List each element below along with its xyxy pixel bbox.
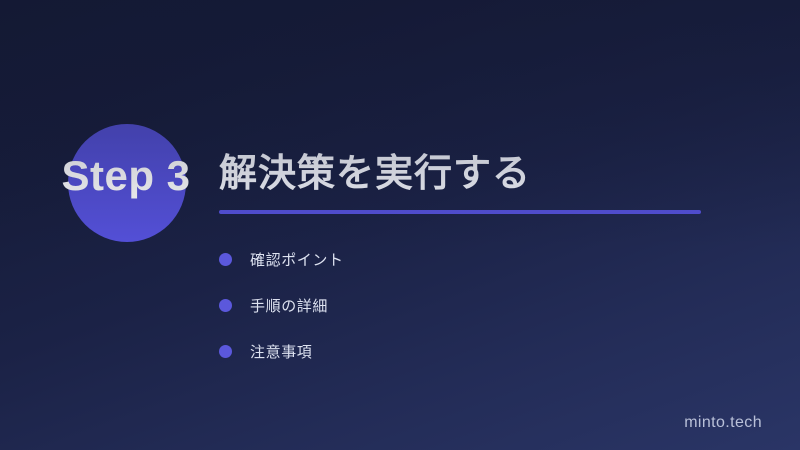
step-badge-label: Step 3 bbox=[46, 150, 206, 202]
list-item: 手順の詳細 bbox=[219, 282, 719, 328]
bullet-dot-icon bbox=[219, 345, 232, 358]
bullet-list: 確認ポイント 手順の詳細 注意事項 bbox=[219, 236, 719, 374]
presentation-slide: Step 3 解決策を実行する 確認ポイント 手順の詳細 注意事項 minto.… bbox=[0, 0, 800, 450]
list-item-label: 手順の詳細 bbox=[250, 295, 328, 316]
list-item-label: 注意事項 bbox=[250, 341, 312, 362]
footer-brand: minto.tech bbox=[684, 414, 762, 432]
title-divider bbox=[219, 210, 701, 214]
slide-title: 解決策を実行する bbox=[219, 142, 531, 197]
list-item: 確認ポイント bbox=[219, 236, 719, 282]
bullet-dot-icon bbox=[219, 299, 232, 312]
slide-content: Step 3 解決策を実行する 確認ポイント 手順の詳細 注意事項 minto.… bbox=[0, 0, 800, 450]
bullet-dot-icon bbox=[219, 253, 232, 266]
list-item: 注意事項 bbox=[219, 328, 719, 374]
list-item-label: 確認ポイント bbox=[250, 249, 344, 270]
